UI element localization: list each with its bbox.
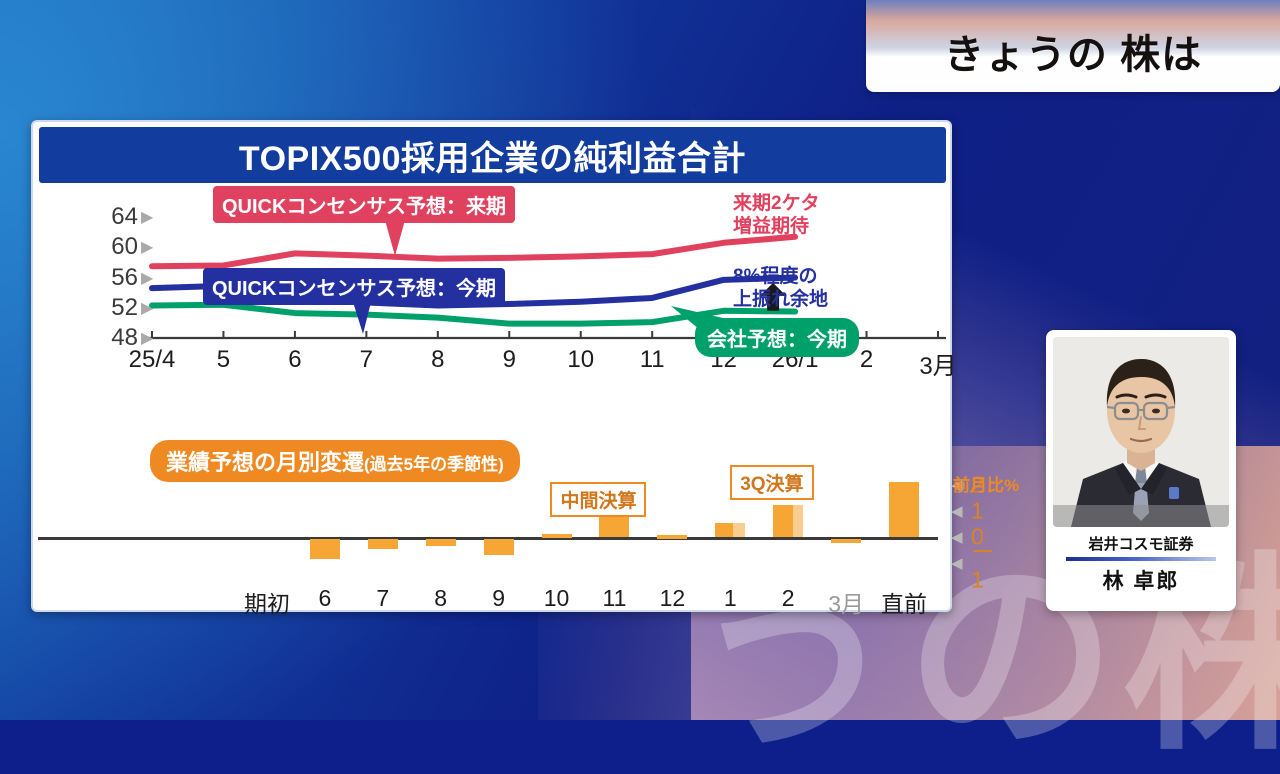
y-axis-tick-marker: ▶: [141, 268, 153, 288]
bar-x-axis-label: 3月: [828, 585, 864, 619]
guest-divider: [1066, 557, 1216, 561]
bar: [368, 539, 398, 549]
bar: [426, 539, 456, 546]
y-axis-label: 60: [111, 233, 138, 261]
bar-chart-title-main: 業績予想の月別変遷: [166, 450, 364, 475]
x-axis-label: 9: [503, 346, 516, 374]
note-next-term-growth: 来期2ケタ増益期待: [733, 192, 820, 238]
bar-right-axis-tick: ◀: [951, 502, 963, 520]
bar-x-axis-label: 12: [660, 585, 686, 612]
y-axis-tick-marker: ▶: [141, 298, 153, 318]
x-axis-label: 6: [288, 346, 301, 374]
program-title-part1: きょうの: [944, 33, 1120, 77]
bar: [484, 539, 514, 555]
note-line: 上振れ余地: [733, 289, 828, 310]
bar-x-axis-label: 直前: [881, 585, 927, 619]
callout-company-forecast: 会社予想：今期: [695, 318, 859, 357]
bar-x-axis-label: 2: [782, 585, 795, 612]
bar-right-axis-tick: ◀: [951, 554, 963, 572]
program-title-part2: 株: [1120, 33, 1161, 77]
x-axis-label: 10: [567, 346, 594, 374]
y-axis-label: 56: [111, 264, 138, 292]
y-axis-tick-marker: ▶: [141, 237, 153, 257]
bar-right-axis-label: ー1: [971, 533, 994, 594]
chart-header: TOPIX500採用企業の純利益合計: [39, 127, 946, 183]
bar-x-axis-label: 6: [318, 585, 331, 612]
bar: [889, 482, 919, 537]
callout-next-term: QUICKコンセンサス予想：来期: [213, 186, 515, 223]
note-line: 来期2ケタ: [733, 193, 820, 214]
bar-annotation: 中間決算: [550, 482, 646, 517]
note-upside-room: 8%程度の上振れ余地: [733, 265, 828, 311]
bar-x-axis-label: 9: [492, 585, 505, 612]
chart-title: TOPIX500採用企業の純利益合計: [239, 131, 746, 180]
bar-x-axis-label: 10: [544, 585, 570, 612]
program-title-plate: きょうの 株は: [866, 0, 1280, 92]
line-series: [152, 237, 795, 266]
bar-right-axis-title: 前月比%: [953, 471, 1019, 496]
bar-annotation: 3Q決算: [730, 465, 813, 500]
bar-highlight: [715, 523, 733, 537]
x-axis-label: 25/4: [129, 346, 176, 374]
bar-x-axis-label: 1: [724, 585, 737, 612]
bar-x-axis-label: 11: [603, 585, 627, 612]
bar-chart-title: 業績予想の月別変遷(過去5年の季節性): [150, 440, 520, 482]
bar-highlight: [773, 505, 793, 538]
guest-card: 岩井コスモ証券 林 卓郎: [1046, 330, 1236, 611]
guest-portrait-illustration: [1053, 337, 1229, 527]
guest-photo: [1053, 337, 1229, 527]
bar: [310, 539, 340, 559]
x-axis-label: 8: [431, 346, 444, 374]
y-axis-tick-marker: ▶: [141, 328, 153, 348]
y-axis-tick-marker: ▶: [141, 207, 153, 227]
line-chart: 64▶60▶56▶52▶48▶25/45678910111226/123月QUI…: [33, 184, 954, 362]
bar-right-axis-tick: ◀: [951, 528, 963, 546]
y-axis-label: 64: [111, 203, 138, 231]
guest-firm: 岩井コスモ証券: [1053, 533, 1229, 554]
note-line: 増益期待: [733, 216, 809, 237]
x-axis-label: 5: [217, 346, 230, 374]
bar-chart: 業績予想の月別変遷(過去5年の季節性) 期初6789101112123月直前2◀…: [33, 452, 954, 612]
bar: [657, 535, 687, 539]
x-axis-label: 2: [860, 346, 873, 374]
note-line: 8%程度の: [733, 266, 817, 287]
x-axis-label: 7: [360, 346, 373, 374]
callout-pointer: [385, 220, 405, 256]
bar-x-axis-label: 期初: [244, 585, 290, 619]
y-axis-label: 52: [111, 294, 138, 322]
bar-chart-title-sub: (過去5年の季節性): [364, 455, 504, 474]
program-title: きょうの 株は: [944, 22, 1202, 80]
chart-card: TOPIX500採用企業の純利益合計 64▶60▶56▶52▶48▶25/456…: [31, 120, 952, 612]
x-axis-label: 3月: [919, 346, 956, 381]
program-title-part3: は: [1161, 33, 1202, 77]
bar: [542, 534, 572, 538]
bar-right-axis-label: 1: [971, 498, 984, 525]
bar-x-axis-label: 7: [376, 585, 389, 612]
x-axis-label: 11: [640, 346, 665, 374]
guest-name: 林 卓郎: [1053, 565, 1229, 595]
callout-pointer: [353, 302, 371, 334]
bar-x-axis-label: 8: [434, 585, 447, 612]
bar: [831, 539, 861, 543]
callout-this-term: QUICKコンセンサス予想：今期: [203, 268, 505, 305]
